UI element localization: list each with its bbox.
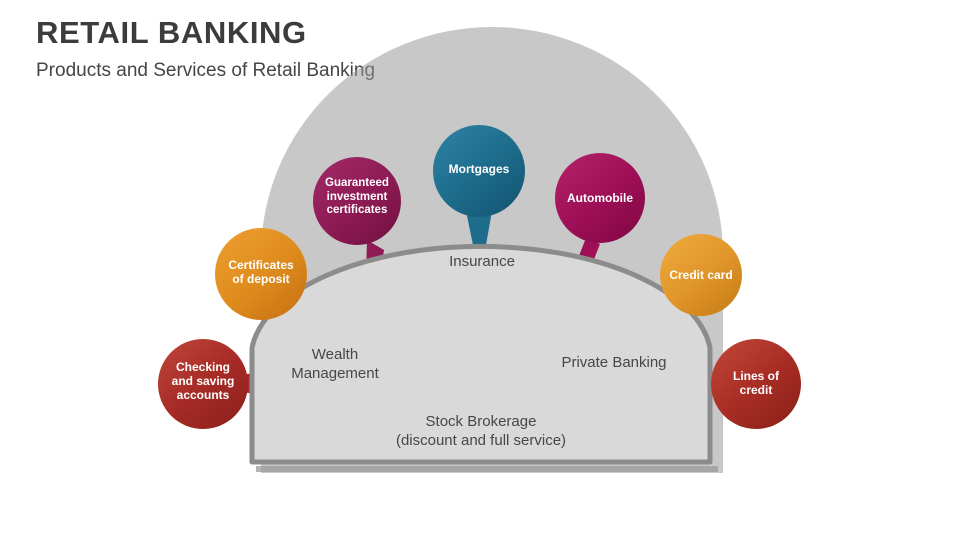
dome-shape — [252, 246, 710, 462]
balloon-automobile[interactable] — [555, 153, 645, 243]
balloon-checking-and-saving-accounts[interactable] — [158, 339, 248, 429]
balloon-certificates-of-deposit[interactable] — [215, 228, 307, 320]
balloon-lines-of-credit[interactable] — [711, 339, 801, 429]
diagram-svg — [0, 0, 960, 540]
balloon-credit-card[interactable] — [660, 234, 742, 316]
slide-canvas: RETAIL BANKING Products and Services of … — [0, 0, 960, 540]
retail-banking-diagram — [0, 0, 960, 540]
balloon-guaranteed-investment-certificates[interactable] — [313, 157, 401, 245]
balloon-mortgages[interactable] — [433, 125, 525, 217]
